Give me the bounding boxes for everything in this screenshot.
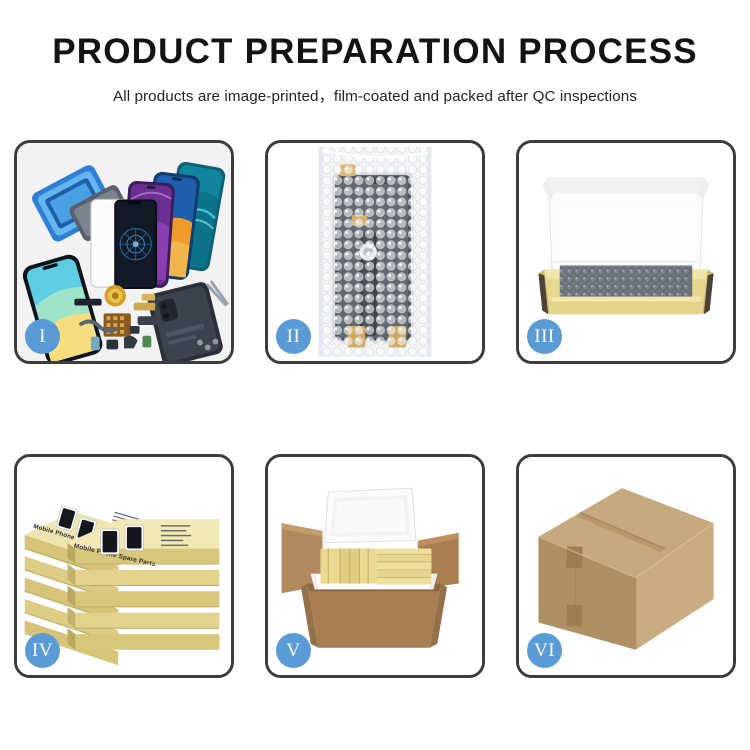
header: PRODUCT PREPARATION PROCESS All products… [0,0,750,106]
process-step-4: Mobile Phone Spare Parts [14,454,234,678]
step-badge-2: II [276,319,311,354]
process-step-6: VI [516,454,736,678]
step-badge-5: V [276,633,311,668]
step-badge-4: IV [25,633,60,668]
step-badge-6: VI [527,633,562,668]
page-subtitle: All products are image-printed，film-coat… [0,84,750,106]
process-step-3: III [516,140,736,364]
process-step-grid: I [14,140,736,678]
process-step-1: I [14,140,234,364]
process-step-5: V [265,454,485,678]
process-step-2: II [265,140,485,364]
page-title: PRODUCT PREPARATION PROCESS [0,34,750,71]
step-badge-3: III [527,319,562,354]
step-badge-1: I [25,319,60,354]
